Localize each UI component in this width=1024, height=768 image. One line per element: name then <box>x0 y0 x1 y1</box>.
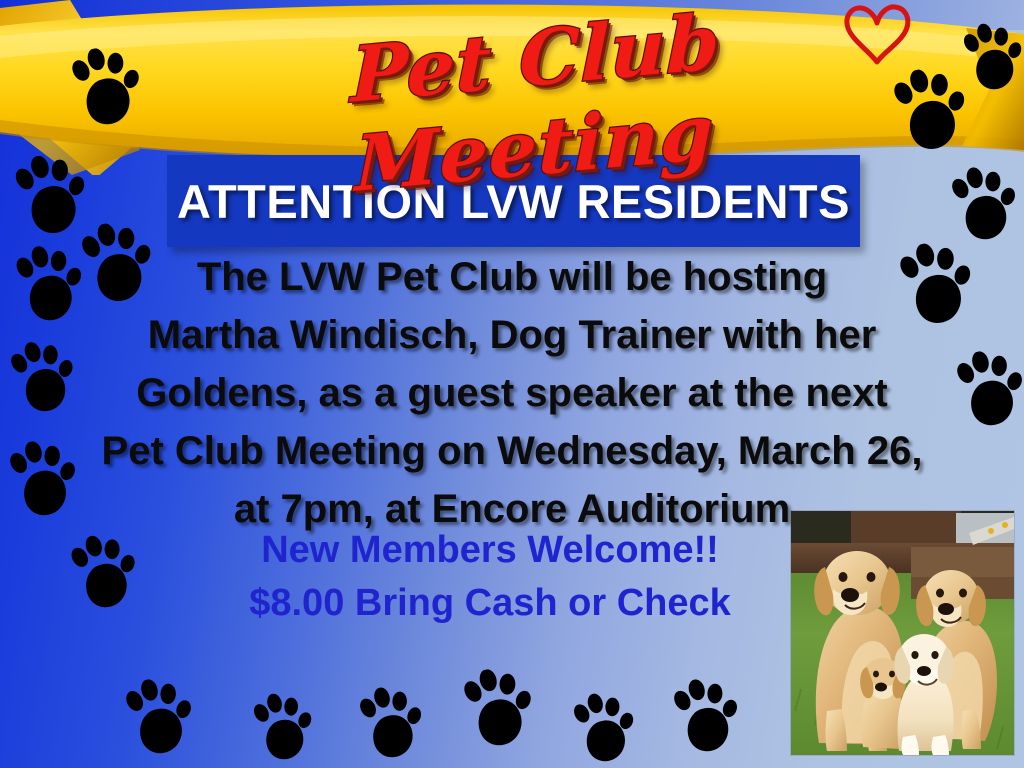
golden-retrievers-photo <box>791 511 1014 755</box>
body-line: The LVW Pet Club will be hosting <box>60 248 964 306</box>
headline-text: ATTENTION LVW RESIDENTS <box>177 174 850 229</box>
paw-print-icon <box>351 680 431 768</box>
body-text-block: The LVW Pet Club will be hosting Martha … <box>60 248 964 538</box>
paw-print-icon <box>665 672 748 762</box>
heart-icon <box>842 4 912 66</box>
paw-print-icon <box>565 686 643 768</box>
headline-banner: ATTENTION LVW RESIDENTS <box>167 155 860 247</box>
paw-print-icon <box>116 672 201 765</box>
body-line: Pet Club Meeting on Wednesday, March 26, <box>60 422 964 480</box>
pet-club-meeting-flyer: Pet Club Meeting <box>0 0 1024 768</box>
body-line: Goldens, as a guest speaker at the next <box>60 364 964 422</box>
paw-print-icon <box>454 661 541 756</box>
paw-print-icon <box>245 686 321 768</box>
body-line: Martha Windisch, Dog Trainer with her <box>60 306 964 364</box>
